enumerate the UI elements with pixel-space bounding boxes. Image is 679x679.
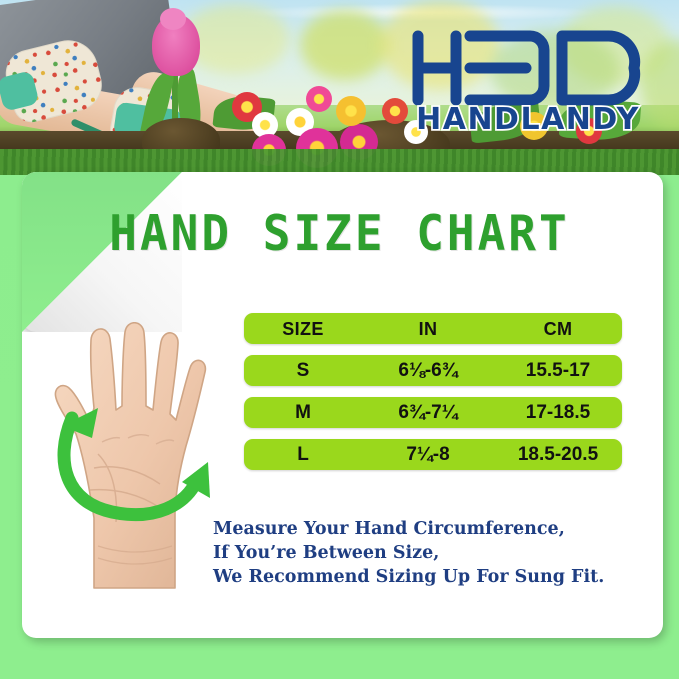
handlandy-logo-svg: HANDLANDY <box>412 28 644 136</box>
table-row: L 7¼-8 18.5-20.5 <box>244 439 622 470</box>
cell-size: S <box>244 361 362 380</box>
sizing-note-line-3: We Recommend Sizing Up For Sung Fit. <box>213 565 643 589</box>
hand-svg <box>36 322 236 602</box>
brand-logo: HANDLANDY <box>412 28 644 136</box>
cell-cm: 17-18.5 <box>494 403 622 422</box>
sizing-note: Measure Your Hand Circumference, If You’… <box>213 517 643 589</box>
cell-cm: 15.5-17 <box>494 361 622 380</box>
cell-cm: 18.5-20.5 <box>494 445 622 464</box>
column-header-size: SIZE <box>244 320 362 338</box>
column-header-cm: CM <box>494 320 622 338</box>
sizing-note-line-2: If You’re Between Size, <box>213 541 643 565</box>
cell-in: 7¼-8 <box>362 445 494 464</box>
hand-illustration <box>36 322 236 602</box>
cell-size: L <box>244 445 362 464</box>
hand-palm-path <box>55 323 205 588</box>
cell-in: 6¾-7¼ <box>362 403 494 422</box>
primrose-flower <box>306 86 332 112</box>
cell-in: 6⅛-6¾ <box>362 361 494 380</box>
table-row: S 6⅛-6¾ 15.5-17 <box>244 355 622 386</box>
foliage-blob <box>300 10 390 80</box>
sizing-note-line-1: Measure Your Hand Circumference, <box>213 517 643 541</box>
primrose-flower <box>382 98 408 124</box>
brand-wordmark: HANDLANDY <box>416 102 640 136</box>
size-chart-page: HANDLANDY HAND SIZE CHART <box>0 0 679 679</box>
cell-size: M <box>244 403 362 422</box>
primrose-flower <box>336 96 366 126</box>
hyacinth-flower <box>160 8 186 30</box>
page-title: HAND SIZE CHART <box>0 204 679 261</box>
column-header-in: IN <box>362 320 494 338</box>
size-table: SIZE IN CM S 6⅛-6¾ 15.5-17 M 6¾-7¼ 17-18… <box>244 313 622 470</box>
table-header-row: SIZE IN CM <box>244 313 622 344</box>
table-row: M 6¾-7¼ 17-18.5 <box>244 397 622 428</box>
